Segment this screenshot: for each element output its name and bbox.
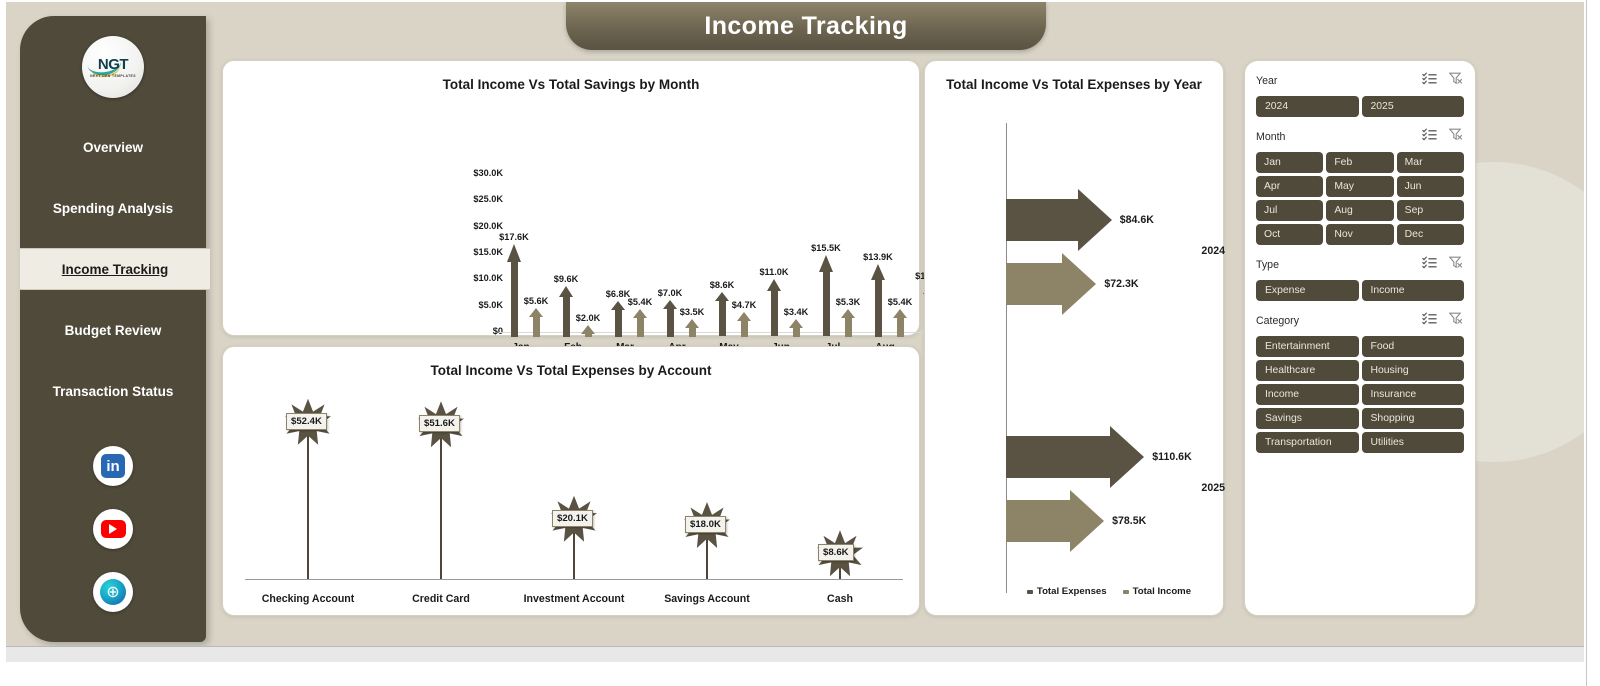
filter-option-month-jul[interactable]: Jul [1256,200,1323,221]
filter-block-type: TypeExpenseIncome [1256,257,1464,301]
arrow-stem [585,334,592,337]
sidebar-item-overview[interactable]: Overview [20,126,206,168]
marker-stem [440,424,442,579]
bar-value-label: $5.3K [836,297,861,307]
multi-select-icon[interactable] [1422,72,1437,90]
social-links: in⊕ [93,446,133,635]
bar-value-label: $9.6K [554,274,579,284]
arrow-value-label: $110.6K [1152,451,1191,463]
bar-value-label: $3.5K [680,307,705,317]
month-group: $13.9K$5.4KAug [869,66,913,337]
arrow-stem [615,310,622,337]
arrow-stem [511,262,518,337]
filter-title-type: Type [1256,259,1279,271]
filter-option-month-may[interactable]: May [1326,176,1393,197]
filter-block-year: Year20242025 [1256,73,1464,117]
arrow-stem [741,321,748,337]
filter-icons [1422,312,1464,330]
multi-select-icon[interactable] [1422,128,1437,146]
arrow-head [1078,189,1112,251]
bar-total-savings[interactable]: $5.6K [529,308,543,337]
arrow-stem [563,297,570,336]
sidebar-item-label: Income Tracking [62,262,169,277]
arrow-head [789,319,803,328]
arrow-head [1070,490,1104,552]
arrow-stem [845,318,852,337]
data-value-label: $18.0K [685,516,726,533]
multi-select-glyph [1422,72,1437,85]
filter-block-category: CategoryEntertainmentFoodHealthcareHousi… [1256,313,1464,453]
arrow-body [1006,436,1110,478]
chart-card-income-vs-expenses-year: Total Income Vs Total Expenses by Year $… [924,60,1224,616]
bar-value-label: $5.6K [524,296,549,306]
filter-option-month-oct[interactable]: Oct [1256,224,1323,245]
filter-icons [1422,128,1464,146]
bar-total-income[interactable]: $7.0K [663,300,677,337]
filter-icons [1422,72,1464,90]
bar-value-label: $4.7K [732,300,757,310]
chart-card-income-vs-savings: Total Income Vs Total Savings by Month $… [222,60,920,336]
bar-total-savings[interactable]: $4.7K [737,312,751,337]
y-tick-label: $5.0K [478,300,503,310]
y-category-label: 2024 [1152,245,1225,257]
sidebar-item-spending-analysis[interactable]: Spending Analysis [20,187,206,229]
arrow-stem [771,291,778,336]
arrow-total-income[interactable]: $78.5K [1006,490,1104,552]
arrow-head [529,308,543,317]
arrow-stem [533,317,540,337]
logo-tagline: NEXT GEN TEMPLATES [82,74,144,78]
month-group: $8.6K$4.7KMay [713,66,757,337]
bar-total-income[interactable]: $9.6K [559,286,573,337]
filter-header: Year [1256,73,1464,89]
arrow-head [611,301,625,310]
sidebar-item-income-tracking[interactable]: Income Tracking [20,248,210,290]
bar-total-savings[interactable]: $5.4K [633,309,647,337]
bar-total-income[interactable]: $11.0K [767,279,781,337]
clear-filter-glyph [1449,128,1464,141]
bar-value-label: $5.4K [888,297,913,307]
bar-value-label: $11.0K [759,267,788,277]
month-group: $6.8K$5.4KMar [609,66,653,337]
arrow-head [767,279,781,291]
arrow-value-label: $72.3K [1104,278,1138,290]
filter-blocks: Year20242025MonthJanFebMarAprMayJunJulAu… [1245,61,1475,477]
arrow-body [1006,263,1062,305]
filter-option-month-sep[interactable]: Sep [1397,200,1464,221]
window-right-strip [1586,0,1600,686]
sidebar-item-budget-review[interactable]: Budget Review [20,309,206,351]
multi-select-glyph [1422,312,1437,325]
window-bottom-strip [6,646,1584,662]
bar-total-income[interactable]: $15.5K [819,255,833,337]
arrow-total-expenses[interactable]: $110.6K [1006,426,1144,488]
sidebar: NGT NEXT GEN TEMPLATES OverviewSpending … [20,16,206,642]
arrow-value-label: $84.6K [1120,214,1154,226]
y-tick-label: $25.0K [473,194,503,204]
filter-option-category-income[interactable]: Income [1256,384,1359,405]
month-group: $17.6K$5.6KJan [505,66,549,337]
arrow-head [685,319,699,328]
chart-legend-year: Total ExpensesTotal Income [925,586,1223,597]
bar-value-label: $5.4K [628,297,653,307]
filter-header: Type [1256,257,1464,273]
clear-filter-glyph [1449,312,1464,325]
filter-option-category-entertainment[interactable]: Entertainment [1256,336,1359,357]
filter-options-type: ExpenseIncome [1256,280,1464,301]
filter-title-year: Year [1256,75,1277,87]
youtube-icon[interactable] [93,509,133,549]
arrow-head [737,312,751,321]
arrow-head [1062,253,1096,315]
month-group: $7.0K$3.5KApr [661,66,705,337]
arrow-value-label: $78.5K [1112,515,1146,527]
bar-value-label: $7.0K [658,288,683,298]
filter-option-month-nov[interactable]: Nov [1326,224,1393,245]
filter-option-category-healthcare[interactable]: Healthcare [1256,360,1359,381]
month-group: $11.0K$3.4KJun [765,66,809,337]
clear-filter-icon[interactable] [1449,256,1464,274]
filter-option-month-feb[interactable]: Feb [1326,152,1393,173]
filter-header: Month [1256,129,1464,145]
bar-total-income[interactable]: $8.6K [715,292,729,337]
bar-total-savings[interactable]: $3.4K [789,319,803,337]
data-value-label: $8.6K [818,544,854,561]
filter-option-category-shopping[interactable]: Shopping [1362,408,1465,429]
y-tick-label: $0 [493,326,503,336]
filter-option-category-housing[interactable]: Housing [1362,360,1465,381]
arrow-head [633,309,647,318]
multi-select-icon[interactable] [1422,312,1437,330]
arrow-head [841,309,855,318]
arrow-stem [689,328,696,337]
legend-swatch [1027,590,1033,594]
logo: NGT NEXT GEN TEMPLATES [82,36,144,98]
marker-stem [307,422,309,579]
arrow-head [663,300,677,309]
x-tick-label: Savings Account [664,593,750,605]
multi-select-icon[interactable] [1422,256,1437,274]
legend-label: Total Income [1133,586,1191,597]
filter-option-month-jan[interactable]: Jan [1256,152,1323,173]
y-category-label: 2025 [1152,482,1225,494]
chart-plot-month: $0$5.0K$10.0K$15.0K$20.0K$25.0K$30.0K $1… [223,61,921,337]
legend-item[interactable]: Total Expenses [1027,586,1107,597]
clear-filter-glyph [1449,72,1464,85]
y-tick-label: $15.0K [473,247,503,257]
sidebar-item-label: Transaction Status [53,384,174,399]
month-group: $15.5K$5.3KJul [817,66,861,337]
website-icon[interactable]: ⊕ [93,572,133,612]
logo-circle: NGT NEXT GEN TEMPLATES [82,36,144,98]
multi-select-glyph [1422,256,1437,269]
bar-value-label: $13.9K [863,252,893,262]
sidebar-item-transaction-status[interactable]: Transaction Status [20,370,206,412]
arrow-head [507,244,521,262]
arrow-head [1110,426,1144,488]
data-value-label: $51.6K [419,415,460,432]
filter-option-month-aug[interactable]: Aug [1326,200,1393,221]
x-tick-label: Investment Account [524,593,625,605]
sidebar-item-label: Spending Analysis [53,201,173,216]
multi-select-glyph [1422,128,1437,141]
arrow-head [871,264,885,280]
filter-option-month-jun[interactable]: Jun [1397,176,1464,197]
bar-value-label: $8.6K [710,280,735,290]
y-tick-label: $20.0K [473,221,503,231]
arrow-head [715,292,729,301]
filter-block-month: MonthJanFebMarAprMayJunJulAugSepOctNovDe… [1256,129,1464,245]
logo-name: NGT [82,56,144,73]
dashboard-canvas: Income Tracking NGT NEXT GEN TEMPLATES O… [6,2,1584,662]
filter-option-month-dec[interactable]: Dec [1397,224,1464,245]
filter-option-type-expense[interactable]: Expense [1256,280,1359,301]
axis-baseline-account [245,579,903,580]
filter-option-category-insurance[interactable]: Insurance [1362,384,1465,405]
filter-option-type-income[interactable]: Income [1362,280,1465,301]
arrow-total-expenses[interactable]: $84.6K [1006,189,1112,251]
clear-filter-icon[interactable] [1449,312,1464,330]
bar-value-label: $17.6K [499,232,529,242]
x-tick-label: Checking Account [262,593,355,605]
bar-value-label: $2.0K [576,313,601,323]
chart-plot-year: $84.6K$72.3K2024$110.6K$78.5K2025 [925,61,1225,617]
legend-label: Total Expenses [1037,586,1107,597]
data-value-label: $52.4K [286,413,327,430]
sidebar-item-label: Overview [83,140,143,155]
filter-option-month-mar[interactable]: Mar [1397,152,1464,173]
youtube-glyph [101,520,126,538]
arrow-stem [637,318,644,337]
filter-options-year: 20242025 [1256,96,1464,117]
bar-value-label: $6.8K [606,289,631,299]
filter-icons [1422,256,1464,274]
arrow-stem [667,309,674,337]
x-tick-label: Credit Card [412,593,470,605]
arrow-stem [897,318,904,337]
filter-title-category: Category [1256,315,1299,327]
arrow-head [819,255,833,272]
sidebar-nav: OverviewSpending AnalysisIncome Tracking… [20,126,206,431]
filter-option-category-transportation[interactable]: Transportation [1256,432,1359,453]
chart-card-income-vs-expenses-account: Total Income Vs Total Expenses by Accoun… [222,346,920,616]
y-tick-label: $10.0K [473,273,503,283]
bar-value-label: $15.5K [811,243,841,253]
filter-option-year-2024[interactable]: 2024 [1256,96,1359,117]
bar-total-income[interactable]: $6.8K [611,301,625,337]
filter-panel: Year20242025MonthJanFebMarAprMayJunJulAu… [1244,60,1476,616]
filter-option-category-food[interactable]: Food [1362,336,1465,357]
y-tick-label: $30.0K [473,168,503,178]
clear-filter-icon[interactable] [1449,128,1464,146]
arrow-stem [875,280,882,337]
filter-option-month-apr[interactable]: Apr [1256,176,1323,197]
page-title: Income Tracking [704,12,907,41]
arrow-body [1006,500,1070,542]
play-triangle [109,524,117,534]
arrow-stem [719,301,726,336]
dashboard-root: Income Tracking NGT NEXT GEN TEMPLATES O… [0,0,1600,686]
linkedin-glyph: in [101,454,125,478]
arrow-head [893,309,907,318]
chart-plot-account: $52.4KChecking Account$51.6KCredit Card$… [223,347,921,617]
filter-options-month: JanFebMarAprMayJunJulAugSepOctNovDec [1256,152,1464,245]
bar-total-savings[interactable]: $2.0K [581,325,595,337]
globe-glyph: ⊕ [100,579,126,605]
bar-total-savings[interactable]: $5.4K [893,309,907,337]
bar-total-income[interactable]: $17.6K [507,244,521,337]
legend-item[interactable]: Total Income [1123,586,1191,597]
clear-filter-glyph [1449,256,1464,269]
data-value-label: $20.1K [552,510,593,527]
filter-option-category-utilities[interactable]: Utilities [1362,432,1465,453]
arrow-body [1006,199,1078,241]
arrow-total-income[interactable]: $72.3K [1006,253,1096,315]
arrow-head [581,325,595,334]
arrow-stem [823,272,830,336]
bar-value-label: $3.4K [784,307,809,317]
clear-filter-icon[interactable] [1449,72,1464,90]
arrow-stem [793,328,800,337]
month-group: $9.6K$2.0KFeb [557,66,601,337]
filter-option-year-2025[interactable]: 2025 [1362,96,1465,117]
filter-title-month: Month [1256,131,1285,143]
bar-total-savings[interactable]: $3.5K [685,319,699,337]
linkedin-icon[interactable]: in [93,446,133,486]
x-tick-label: Cash [827,593,853,605]
arrow-head [559,286,573,297]
bar-total-savings[interactable]: $5.3K [841,309,855,337]
legend-swatch [1123,590,1129,594]
bar-total-income[interactable]: $13.9K [871,264,885,337]
filter-options-category: EntertainmentFoodHealthcareHousingIncome… [1256,336,1464,453]
y-axis-labels-month: $0$5.0K$10.0K$15.0K$20.0K$25.0K$30.0K [447,61,503,337]
sidebar-item-label: Budget Review [65,323,162,338]
filter-option-category-savings[interactable]: Savings [1256,408,1359,429]
header-banner: Income Tracking [566,2,1046,50]
filter-header: Category [1256,313,1464,329]
